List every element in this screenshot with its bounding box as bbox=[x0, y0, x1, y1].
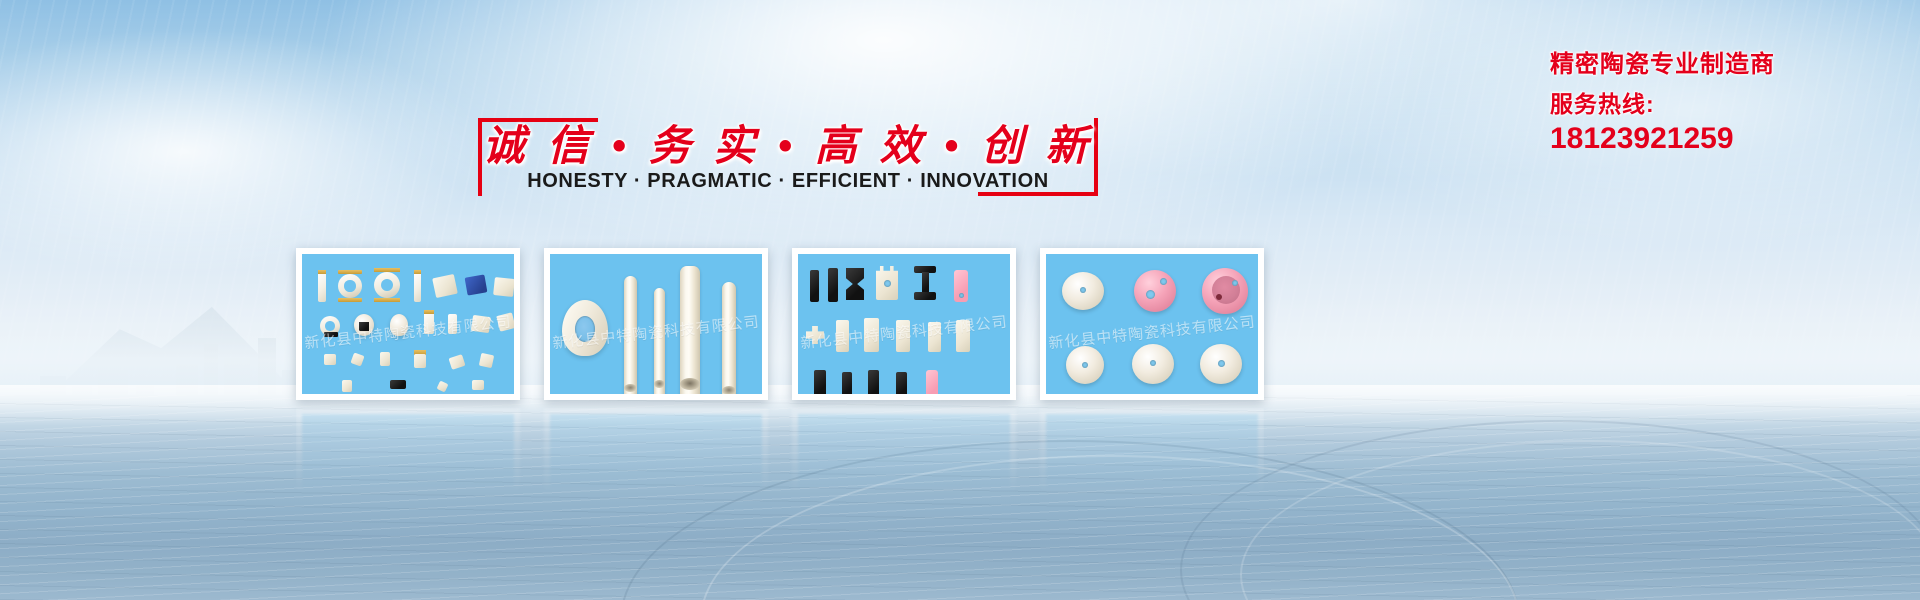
company-tagline: 精密陶瓷专业制造商 bbox=[1550, 52, 1880, 78]
ceramic-tube bbox=[680, 266, 700, 394]
ceramic-bore bbox=[1146, 290, 1155, 299]
ceramic-part bbox=[350, 352, 364, 366]
ceramic-part bbox=[928, 322, 941, 352]
ceramic-part bbox=[448, 314, 457, 334]
ceramic-bore bbox=[1232, 280, 1238, 286]
ceramic-ring bbox=[338, 274, 362, 298]
ceramic-part bbox=[846, 268, 864, 300]
slogan-block: 诚 信 • 务 实 • 高 效 • 创 新 HONESTY · PRAGMATI… bbox=[478, 112, 1098, 200]
panel-reflection-1 bbox=[296, 408, 520, 494]
ceramic-part bbox=[479, 353, 494, 368]
ceramic-tube-bore bbox=[654, 380, 665, 388]
ceramic-tube-bore bbox=[722, 386, 736, 394]
ceramic-part bbox=[896, 320, 910, 352]
panel-3-image: 新化县中特陶瓷科技有限公司 bbox=[798, 254, 1010, 394]
ceramic-part bbox=[374, 268, 400, 272]
ceramic-part bbox=[493, 277, 514, 297]
ceramic-part bbox=[810, 270, 819, 302]
product-panel-2[interactable]: 新化县中特陶瓷科技有限公司 bbox=[544, 248, 768, 400]
ceramic-part bbox=[338, 270, 362, 274]
ceramic-part bbox=[342, 380, 352, 392]
ceramic-part bbox=[814, 370, 826, 394]
product-panel-row: 新化县中特陶瓷科技有限公司 新化县中特陶瓷科技有限公司 bbox=[296, 248, 1264, 400]
ceramic-part bbox=[448, 354, 465, 370]
ceramic-part bbox=[465, 274, 488, 295]
ceramic-part bbox=[324, 332, 338, 337]
ceramic-bore bbox=[1160, 278, 1167, 285]
ceramic-bore bbox=[1216, 294, 1222, 300]
ceramic-part bbox=[914, 292, 936, 300]
ceramic-part bbox=[868, 370, 879, 394]
hotline-label: 服务热线: bbox=[1550, 92, 1880, 117]
ceramic-part bbox=[896, 372, 907, 394]
ceramic-bore bbox=[1218, 360, 1225, 367]
ceramic-bore bbox=[1080, 287, 1086, 293]
ceramic-part bbox=[424, 312, 434, 334]
ceramic-part bbox=[471, 315, 491, 333]
ceramic-part bbox=[864, 318, 879, 352]
contact-block: 精密陶瓷专业制造商 服务热线: 18123921259 bbox=[1550, 52, 1880, 155]
ceramic-part bbox=[318, 272, 326, 302]
ceramic-part bbox=[414, 354, 426, 368]
panel-4-image: 新化县中特陶瓷科技有限公司 bbox=[1046, 254, 1258, 394]
ceramic-bore bbox=[575, 316, 595, 342]
ceramic-disc-pink bbox=[1134, 270, 1176, 312]
ceramic-part bbox=[472, 380, 484, 390]
ceramic-bore bbox=[1082, 362, 1088, 368]
ceramic-part bbox=[414, 272, 421, 302]
ceramic-part bbox=[390, 380, 406, 389]
ceramic-part bbox=[324, 354, 336, 365]
ceramic-ring bbox=[374, 272, 400, 298]
ceramic-bore bbox=[884, 280, 891, 287]
ceramic-tube bbox=[624, 276, 637, 394]
ceramic-part bbox=[836, 320, 849, 352]
panel-reflection-3 bbox=[792, 408, 1016, 494]
ceramic-part bbox=[437, 381, 449, 393]
ceramic-part bbox=[374, 298, 400, 302]
slogan-chinese: 诚 信 • 务 实 • 高 效 • 创 新 bbox=[478, 112, 1098, 173]
hotline-number[interactable]: 18123921259 bbox=[1550, 122, 1880, 155]
ceramic-tube-bore bbox=[680, 378, 700, 390]
panel-reflection-2 bbox=[544, 408, 768, 494]
ceramic-tube bbox=[722, 282, 736, 394]
ceramic-part bbox=[956, 320, 970, 352]
ceramic-part bbox=[380, 352, 390, 366]
panel-reflections bbox=[296, 408, 1264, 494]
product-panel-4[interactable]: 新化县中特陶瓷科技有限公司 bbox=[1040, 248, 1264, 400]
ceramic-bore bbox=[1150, 360, 1156, 366]
ceramic-part bbox=[496, 312, 514, 331]
slogan-english: HONESTY · PRAGMATIC · EFFICIENT · INNOVA… bbox=[478, 170, 1098, 193]
product-panel-1[interactable]: 新化县中特陶瓷科技有限公司 bbox=[296, 248, 520, 400]
ceramic-tube bbox=[654, 288, 665, 394]
ceramic-part bbox=[926, 370, 938, 394]
ceramic-part bbox=[359, 322, 369, 331]
panel-1-image: 新化县中特陶瓷科技有限公司 bbox=[302, 254, 514, 394]
ceramic-tube-bore bbox=[624, 384, 637, 392]
ceramic-part bbox=[318, 270, 326, 274]
product-panel-3[interactable]: 新化县中特陶瓷科技有限公司 bbox=[792, 248, 1016, 400]
ceramic-part bbox=[806, 326, 824, 344]
ceramic-part bbox=[338, 298, 362, 302]
ceramic-bore bbox=[959, 293, 964, 298]
hero-banner: 诚 信 • 务 实 • 高 效 • 创 新 HONESTY · PRAGMATI… bbox=[0, 0, 1920, 600]
ceramic-part bbox=[432, 274, 458, 298]
ceramic-part bbox=[424, 310, 434, 314]
ceramic-part bbox=[390, 314, 408, 336]
panel-reflection-4 bbox=[1040, 408, 1264, 494]
ceramic-part bbox=[414, 270, 421, 274]
ceramic-part bbox=[922, 272, 929, 294]
panel-2-image: 新化县中特陶瓷科技有限公司 bbox=[550, 254, 762, 394]
ceramic-part bbox=[842, 372, 852, 394]
ceramic-part bbox=[828, 268, 838, 302]
